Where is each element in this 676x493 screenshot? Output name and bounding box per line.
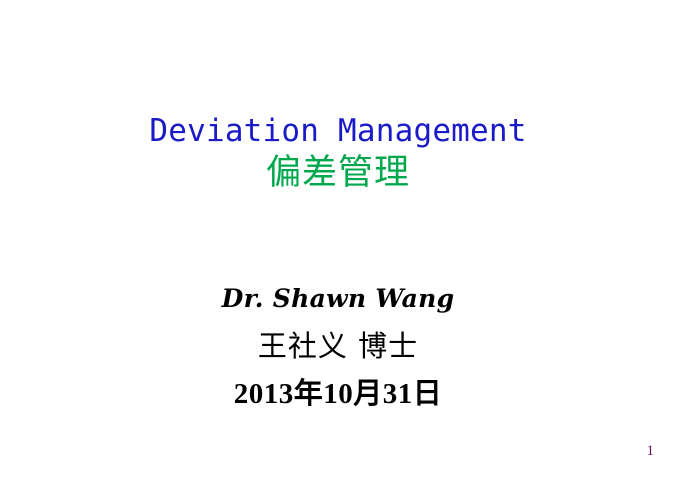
author-name-chinese: 王社义 博士 xyxy=(0,324,676,368)
title-block: Deviation Management 偏差管理 xyxy=(0,112,676,194)
presentation-date: 2013年10月31日 xyxy=(0,374,676,414)
slide-title-english: Deviation Management xyxy=(0,112,676,150)
title-slide: Deviation Management 偏差管理 Dr. Shawn Wang… xyxy=(0,0,676,493)
slide-title-chinese: 偏差管理 xyxy=(0,152,676,194)
page-number: 1 xyxy=(647,443,655,459)
author-block: Dr. Shawn Wang 王社义 博士 2013年10月31日 xyxy=(0,282,676,414)
author-name-english: Dr. Shawn Wang xyxy=(0,282,676,316)
